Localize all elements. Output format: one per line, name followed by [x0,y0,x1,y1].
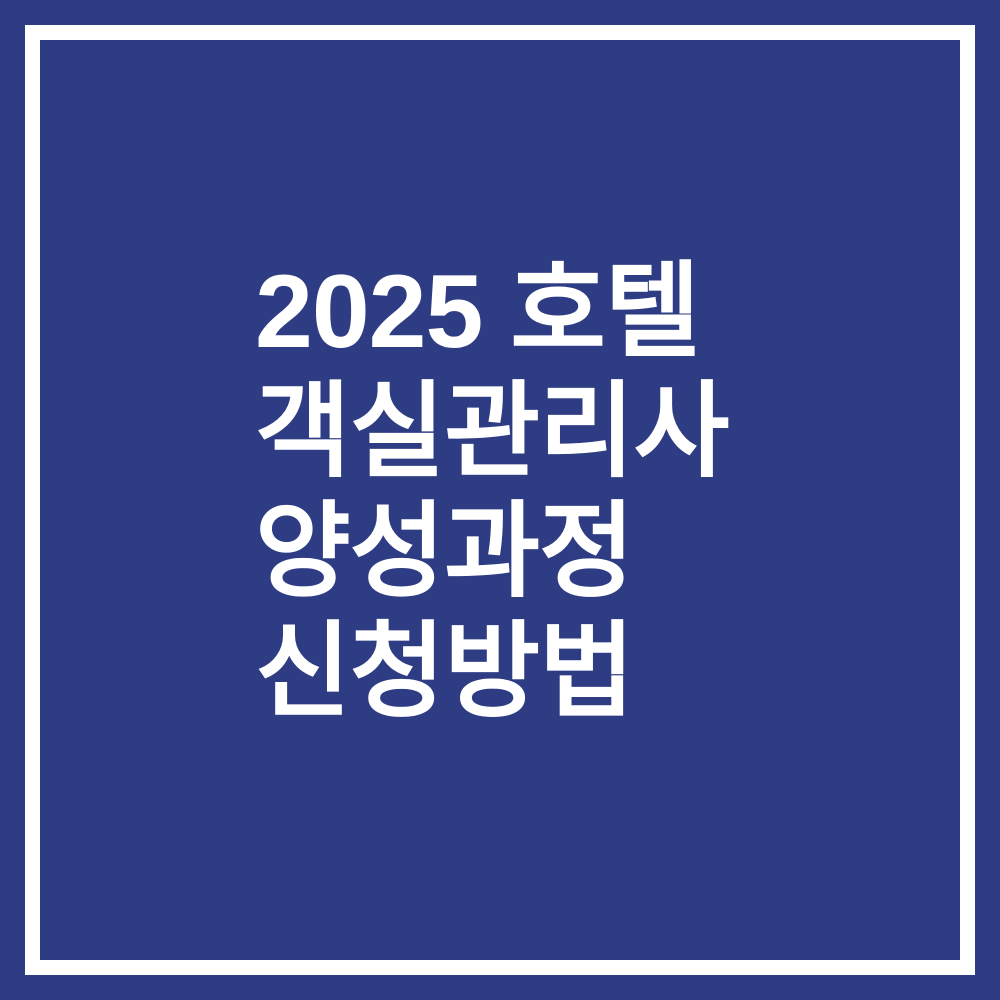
headline-line-3: 양성과정 [255,492,955,612]
poster-canvas: 2025 호텔 객실관리사 양성과정 신청방법 [0,0,1000,1000]
headline-line-2: 객실관리사 [255,372,955,492]
headline-line-4: 신청방법 [255,612,955,732]
headline-line-1: 2025 호텔 [255,252,955,372]
poster-headline: 2025 호텔 객실관리사 양성과정 신청방법 [255,252,955,732]
poster-inner-panel: 2025 호텔 객실관리사 양성과정 신청방법 [40,40,960,960]
